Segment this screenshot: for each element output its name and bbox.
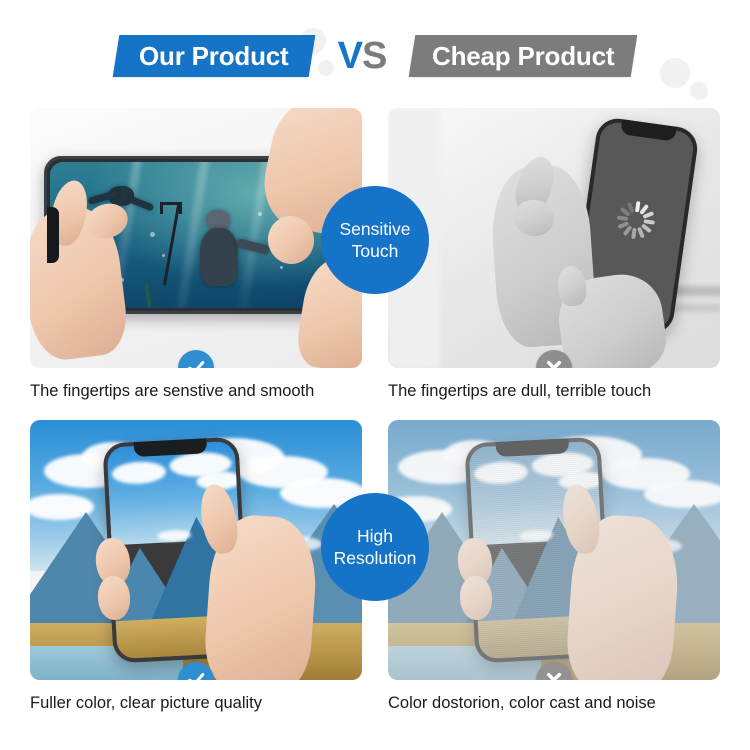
cheap-product-banner: Cheap Product (409, 35, 638, 77)
sensitive-touch-badge: Sensitive Touch (321, 186, 429, 294)
badge-line-1: Sensitive (339, 218, 410, 240)
badge-line-1: High (357, 525, 393, 547)
vs-s-letter: S (362, 35, 386, 77)
comparison-infographic: Our Product VS Cheap Product (0, 0, 750, 750)
vs-v-letter: V (338, 35, 362, 77)
high-resolution-badge: High Resolution (321, 493, 429, 601)
header: Our Product VS Cheap Product (0, 24, 750, 88)
caption-bottom-right: Color dostorion, color cast and noise (388, 694, 720, 714)
trident-shaft (163, 204, 180, 285)
cell-top-right: The fingertips are dull, terrible touch (388, 108, 720, 402)
loading-spinner-icon (614, 199, 657, 242)
caption-bottom-left: Fuller color, clear picture quality (30, 694, 362, 714)
phone-notch (47, 207, 59, 263)
cell-bottom-right: Color dostorion, color cast and noise (388, 420, 720, 714)
badge-line-2: Resolution (334, 547, 417, 569)
seaweed (144, 282, 152, 308)
photo-washed-mountain (388, 420, 720, 680)
our-product-label: Our Product (137, 43, 290, 69)
cell-top-left: The fingertips are senstive and smooth (30, 108, 362, 402)
cheap-product-label: Cheap Product (430, 43, 616, 69)
photo-hands-underwater-game (30, 108, 362, 368)
vs-separator: VS (312, 37, 412, 75)
photo-vivid-mountain (30, 420, 362, 680)
photo-grayscale-loading-phone (388, 108, 720, 368)
caption-top-right: The fingertips are dull, terrible touch (388, 382, 720, 402)
diver-main-body (200, 228, 238, 286)
badge-line-2: Touch (352, 240, 399, 262)
caption-top-left: The fingertips are senstive and smooth (30, 382, 362, 402)
cell-bottom-left: Fuller color, clear picture quality (30, 420, 362, 714)
trident-head (160, 202, 182, 214)
our-product-banner: Our Product (113, 35, 316, 77)
